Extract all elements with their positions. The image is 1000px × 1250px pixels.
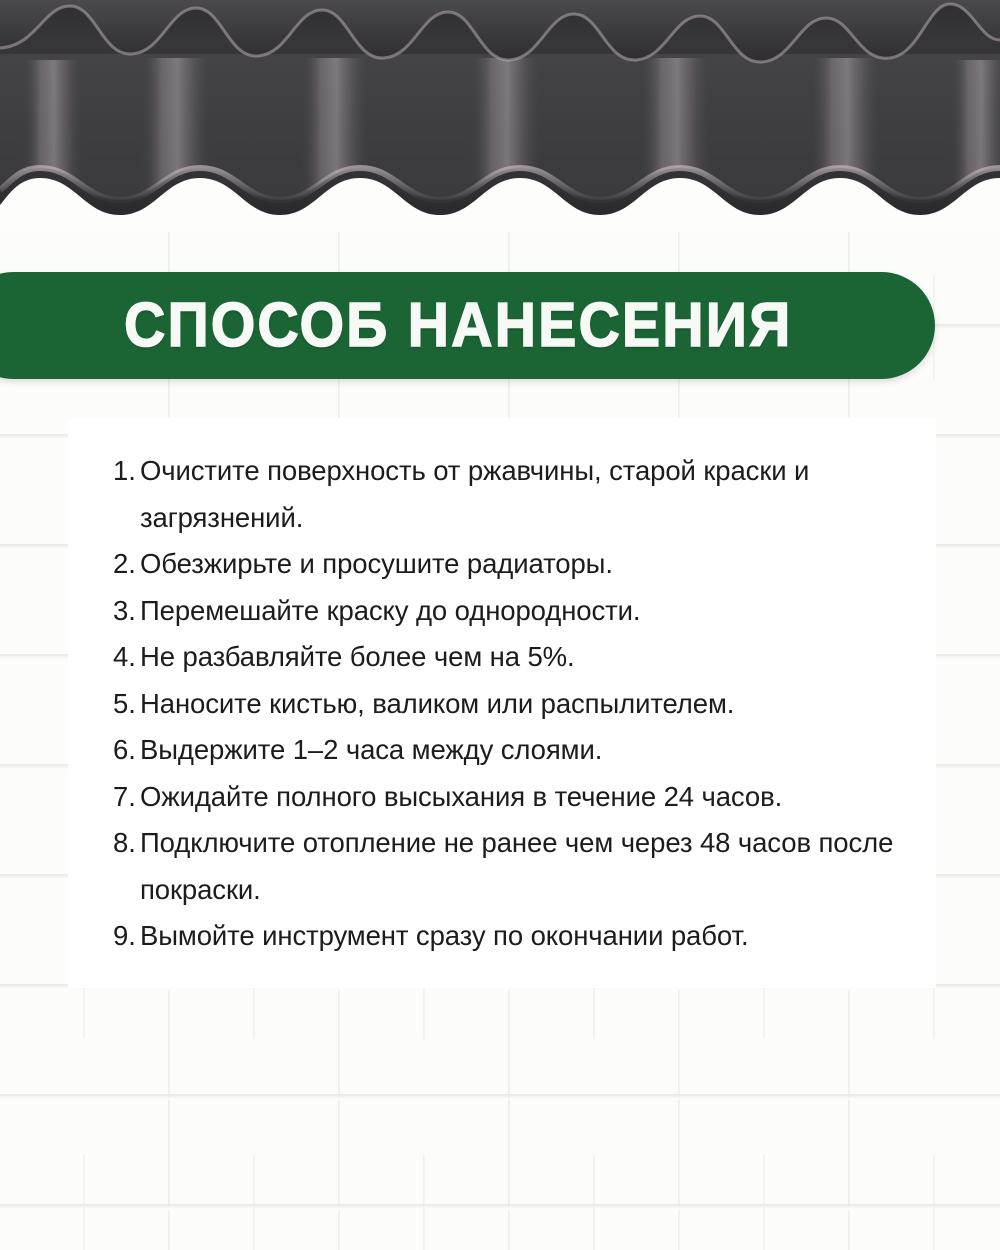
step-number: 5. [113, 681, 140, 728]
step-number: 6. [113, 727, 140, 774]
list-item: 3. Перемешайте краску до однородности. [113, 588, 903, 635]
step-text: Ожидайте полного высыхания в течение 24 … [140, 774, 903, 821]
application-steps-list: 1. Очистите поверхность от ржавчины, ста… [113, 448, 903, 960]
list-item: 1. Очистите поверхность от ржавчины, ста… [113, 448, 903, 541]
step-text: Вымойте инструмент сразу по окончании ра… [140, 913, 903, 960]
step-text: Выдержите 1–2 часа между слоями. [140, 727, 903, 774]
step-text: Обезжирьте и просушите радиаторы. [140, 541, 903, 588]
list-item: 9. Вымойте инструмент сразу по окончании… [113, 913, 903, 960]
step-text: Не разбавляйте более чем на 5%. [140, 634, 903, 681]
step-number: 9. [113, 913, 140, 960]
step-number: 7. [113, 774, 140, 821]
step-number: 1. [113, 448, 140, 495]
step-number: 4. [113, 634, 140, 681]
list-item: 6. Выдержите 1–2 часа между слоями. [113, 727, 903, 774]
step-text: Очистите поверхность от ржавчины, старой… [140, 448, 903, 541]
step-text: Перемешайте краску до однородности. [140, 588, 903, 635]
step-number: 2. [113, 541, 140, 588]
step-number: 8. [113, 820, 140, 867]
step-text: Подключите отопление не ранее чем через … [140, 820, 903, 913]
list-item: 7. Ожидайте полного высыхания в течение … [113, 774, 903, 821]
roof-tile-hero-image [0, 0, 1000, 232]
step-text: Наносите кистью, валиком или распылителе… [140, 681, 903, 728]
step-number: 3. [113, 588, 140, 635]
list-item: 2. Обезжирьте и просушите радиаторы. [113, 541, 903, 588]
poster-page: СПОСОБ НАНЕСЕНИЯ 1. Очистите поверхность… [0, 0, 1000, 1250]
list-item: 5. Наносите кистью, валиком или распылит… [113, 681, 903, 728]
page-title: СПОСОБ НАНЕСЕНИЯ [124, 295, 792, 357]
section-title-banner: СПОСОБ НАНЕСЕНИЯ [0, 272, 935, 379]
list-item: 4. Не разбавляйте более чем на 5%. [113, 634, 903, 681]
list-item: 8. Подключите отопление не ранее чем чер… [113, 820, 903, 913]
